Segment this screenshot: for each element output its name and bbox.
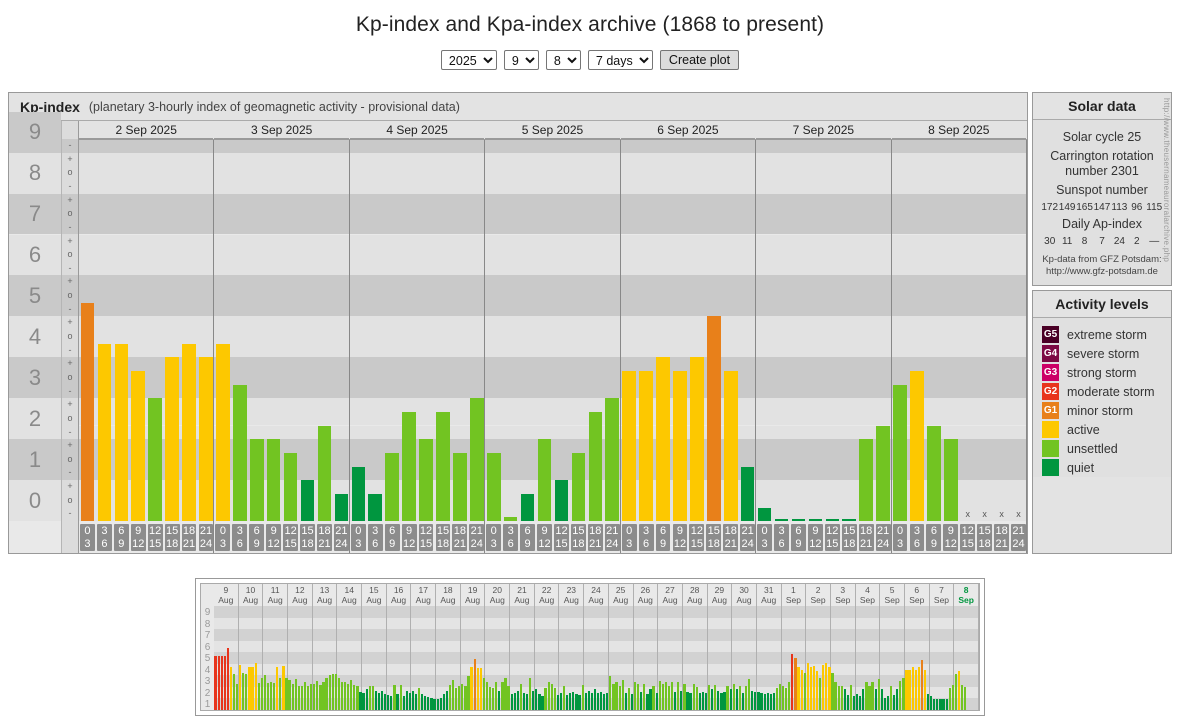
overview-bar xyxy=(535,689,537,710)
overview-bar xyxy=(569,693,571,710)
overview-bar xyxy=(375,691,377,711)
overview-bar xyxy=(597,693,599,710)
overview-bar xyxy=(304,682,306,710)
time-slot-label: 69 xyxy=(385,524,400,551)
overview-bar xyxy=(483,678,485,711)
kp-bar xyxy=(775,519,789,521)
overview-bar xyxy=(665,682,667,710)
y-sub-mark: + xyxy=(62,480,78,494)
kp-bar xyxy=(842,519,856,521)
kp-bar xyxy=(267,439,281,521)
overview-bar xyxy=(335,674,337,710)
overview-bar xyxy=(264,675,266,710)
overview-y-axis: 987654321 xyxy=(201,584,214,710)
time-slot-label: 03 xyxy=(622,524,637,551)
overview-bar xyxy=(588,691,590,711)
overview-bar xyxy=(486,682,488,710)
ap-value-6: — xyxy=(1146,236,1163,247)
main-area: Kp-index (planetary 3-hourly index of ge… xyxy=(8,92,1172,554)
overview-bar xyxy=(446,691,448,711)
overview-bar xyxy=(899,681,901,710)
overview-bar xyxy=(794,658,796,710)
overview-bar xyxy=(495,682,497,710)
time-slot-label: 1518 xyxy=(300,524,315,551)
kp-bar xyxy=(741,467,755,521)
kp-bar xyxy=(81,303,95,521)
kp-bar xyxy=(148,398,162,521)
overview-bar xyxy=(517,691,519,711)
overview-bar xyxy=(270,682,272,710)
overview-bar xyxy=(538,694,540,710)
kp-bar xyxy=(131,371,145,521)
overview-day-label: 27Aug xyxy=(658,584,682,606)
overview-bar xyxy=(825,663,827,710)
overview-bar xyxy=(230,667,232,710)
overview-bar xyxy=(544,688,546,710)
overview-bar xyxy=(773,693,775,710)
source-line-2[interactable]: http://www.gfz-potsdam.de xyxy=(1037,266,1167,278)
level-label: minor storm xyxy=(1067,404,1133,418)
overview-bar xyxy=(807,663,809,710)
overview-bar xyxy=(606,693,608,710)
overview-bar xyxy=(582,685,584,710)
time-slot-label: 1518 xyxy=(571,524,586,551)
time-slot-label: 1215 xyxy=(283,524,298,551)
range-select[interactable]: 7 days xyxy=(588,50,653,70)
year-select[interactable]: 2025 xyxy=(441,50,497,70)
overview-bar xyxy=(548,682,550,710)
overview-bar xyxy=(841,686,843,710)
overview-bar xyxy=(733,684,735,710)
overview-y-label: 7 xyxy=(201,631,214,641)
kp-bar xyxy=(944,439,958,521)
level-label: moderate storm xyxy=(1067,385,1155,399)
y-sub-mark: o xyxy=(62,166,78,180)
overview-bar xyxy=(347,684,349,710)
overview-bar xyxy=(714,685,716,710)
y-sub-mark: - xyxy=(62,180,78,194)
overview-bar xyxy=(622,680,624,710)
day-header: 4 Sep 2025 xyxy=(350,121,484,139)
overview-bar xyxy=(227,648,229,710)
overview-bar xyxy=(612,684,614,710)
overview-bar xyxy=(686,692,688,710)
kp-bar xyxy=(758,508,772,522)
overview-day-label: 7Sep xyxy=(930,584,954,606)
kp-bar xyxy=(809,519,823,521)
overview-y-label: 6 xyxy=(201,643,214,653)
time-slot-label: 03 xyxy=(351,524,366,551)
overview-day-label: 10Aug xyxy=(239,584,263,606)
overview-bar xyxy=(560,693,562,710)
overview-bar xyxy=(797,667,799,710)
time-slot-label: 1518 xyxy=(842,524,857,551)
overview-bar xyxy=(640,692,642,710)
ap-value-5: 2 xyxy=(1128,236,1145,247)
time-slot-label: 912 xyxy=(402,524,417,551)
time-slot-label: 1215 xyxy=(148,524,163,551)
time-slot-label: 1821 xyxy=(588,524,603,551)
overview-bar xyxy=(748,679,750,710)
y-sub-mark: o xyxy=(62,289,78,303)
overview-bar xyxy=(572,692,574,710)
activity-level-g4: G4severe storm xyxy=(1033,344,1171,363)
overview-bar xyxy=(717,691,719,711)
missing-data-marker: x xyxy=(976,509,993,519)
y-sub-mark: - xyxy=(62,344,78,358)
overview-bar xyxy=(745,686,747,710)
overview-bar xyxy=(248,667,250,710)
overview-bar xyxy=(884,698,886,710)
overview-bar xyxy=(563,686,565,710)
sunspot-value-0: 172 xyxy=(1041,202,1058,213)
overview-bar xyxy=(233,674,235,710)
overview-day-label: 11Aug xyxy=(263,584,287,606)
overview-bar xyxy=(255,663,257,710)
overview-bar xyxy=(600,692,602,710)
activity-levels-list: G5extreme stormG4severe stormG3strong st… xyxy=(1033,318,1171,477)
overview-bar xyxy=(557,695,559,710)
overview-bar xyxy=(896,689,898,710)
overview-bar xyxy=(834,682,836,710)
overview-bar xyxy=(239,665,241,711)
overview-bar xyxy=(952,685,954,710)
time-slot-label: 912 xyxy=(808,524,823,551)
overview-bar xyxy=(452,680,454,710)
y-sub-mark: o xyxy=(62,371,78,385)
overview-bar xyxy=(273,683,275,710)
overview-day-label: 14Aug xyxy=(337,584,361,606)
time-slot-label: 03 xyxy=(893,524,908,551)
kp-bar xyxy=(470,398,484,521)
overview-bar xyxy=(828,667,830,710)
overview-bar xyxy=(319,685,321,710)
overview-bar xyxy=(245,674,247,710)
overview-bar xyxy=(529,678,531,711)
overview-bar xyxy=(526,694,528,710)
time-slot-label: 1518 xyxy=(977,524,992,551)
day-header: 2 Sep 2025 xyxy=(79,121,213,139)
time-slot-label: 1215 xyxy=(419,524,434,551)
overview-bar xyxy=(541,696,543,710)
overview-bar xyxy=(316,681,318,710)
overview-bar xyxy=(381,691,383,711)
kp-bar xyxy=(605,398,619,521)
kp-bar xyxy=(707,316,721,521)
level-swatch-icon xyxy=(1042,421,1059,438)
time-slot-label: 2124 xyxy=(876,524,891,551)
overview-bar xyxy=(649,689,651,710)
overview-bar xyxy=(369,686,371,710)
kp-plot-panel: Kp-index (planetary 3-hourly index of ge… xyxy=(8,92,1028,554)
overview-bar xyxy=(751,691,753,711)
overview-bar xyxy=(403,696,405,710)
overview-bar xyxy=(822,665,824,711)
overview-bar xyxy=(683,684,685,710)
overview-bar xyxy=(350,680,352,710)
overview-day-column[interactable]: 17Aug xyxy=(411,584,436,710)
watermark-text: http://www.theusernameauroralarchive.php xyxy=(1162,98,1171,262)
y-sub-mark: - xyxy=(62,262,78,276)
time-slot-label: 2124 xyxy=(740,524,755,551)
source-line-1: Kp-data from GFZ Potsdam: xyxy=(1037,254,1167,266)
overview-day-label: 13Aug xyxy=(313,584,337,606)
overview-bar xyxy=(905,670,907,710)
overview-bar xyxy=(523,693,525,710)
activity-level-quiet: quiet xyxy=(1033,458,1171,477)
time-slot-label: 912 xyxy=(266,524,281,551)
level-swatch-icon xyxy=(1042,440,1059,457)
overview-bar xyxy=(603,694,605,710)
overview-day-label: 30Aug xyxy=(732,584,756,606)
overview-bar xyxy=(393,685,395,710)
kp-bar xyxy=(927,426,941,521)
time-slot-label: 1518 xyxy=(436,524,451,551)
overview-bar xyxy=(430,698,432,710)
activity-level-g3: G3strong storm xyxy=(1033,363,1171,382)
kp-bar xyxy=(115,344,129,521)
y-sub-mark: - xyxy=(62,139,78,153)
overview-bar xyxy=(677,682,679,710)
overview-bar xyxy=(566,695,568,710)
time-slot-label: 1821 xyxy=(994,524,1009,551)
kp-bar xyxy=(589,412,603,521)
kp-bar xyxy=(826,519,840,521)
level-label: unsettled xyxy=(1067,442,1118,456)
overview-day-label: 22Aug xyxy=(535,584,559,606)
kp-bar xyxy=(233,385,247,521)
month-select[interactable]: 9 xyxy=(504,50,539,70)
overview-bar xyxy=(282,666,284,710)
overview-bar xyxy=(338,678,340,711)
kp-bar xyxy=(521,494,535,521)
overview-day-label: 6Sep xyxy=(905,584,929,606)
overview-bar xyxy=(930,696,932,710)
overview-bar xyxy=(856,694,858,710)
level-swatch-icon: G1 xyxy=(1042,402,1059,419)
ap-value-3: 7 xyxy=(1093,236,1110,247)
overview-bar xyxy=(878,679,880,710)
overview-bar xyxy=(458,686,460,710)
level-label: quiet xyxy=(1067,461,1094,475)
overview-bar xyxy=(310,684,312,710)
level-label: strong storm xyxy=(1067,366,1136,380)
overview-bar xyxy=(332,674,334,710)
missing-data-marker: x xyxy=(993,509,1010,519)
create-plot-button[interactable]: Create plot xyxy=(660,50,739,70)
sunspot-value-6: 115 xyxy=(1146,202,1163,213)
time-slot-label: 36 xyxy=(232,524,247,551)
activity-level-g1: G1minor storm xyxy=(1033,401,1171,420)
kp-bar-chart: 2 Sep 202503366991212151518182121243 Sep… xyxy=(79,121,1027,553)
overview-bar xyxy=(674,692,676,710)
y-sub-mark: + xyxy=(62,235,78,249)
day-header: 6 Sep 2025 xyxy=(621,121,755,139)
overview-day-label: 8Sep xyxy=(954,584,978,606)
overview-bar xyxy=(788,682,790,710)
overview-day-label: 31Aug xyxy=(757,584,781,606)
overview-bar xyxy=(801,670,803,710)
overview-y-label: 2 xyxy=(201,689,214,699)
y-sub-mark: - xyxy=(62,303,78,317)
page-title: Kp-index and Kpa-index archive (1868 to … xyxy=(0,0,1180,37)
overview-day-label: 17Aug xyxy=(411,584,435,606)
kp-bar xyxy=(572,453,586,521)
plot-header: Kp-index (planetary 3-hourly index of ge… xyxy=(9,93,1027,121)
time-slot-label: 69 xyxy=(249,524,264,551)
overview-bar xyxy=(261,678,263,711)
y-sub-mark: + xyxy=(62,194,78,208)
kp-bar xyxy=(318,426,332,521)
overview-bar xyxy=(480,668,482,710)
overview-bar xyxy=(760,693,762,710)
time-slot-label: 2124 xyxy=(199,524,214,551)
overview-bar xyxy=(504,678,506,711)
overview-bar xyxy=(366,689,368,710)
overview-bar xyxy=(696,687,698,710)
overview-day-label: 20Aug xyxy=(485,584,509,606)
overview-bar xyxy=(933,699,935,710)
overview-day-label: 4Sep xyxy=(856,584,880,606)
kp-bar xyxy=(368,494,382,521)
overview-bar xyxy=(464,686,466,710)
time-slot-label: 1821 xyxy=(723,524,738,551)
overview-bar xyxy=(276,667,278,710)
overview-bar xyxy=(520,684,522,710)
y-sub-mark: - xyxy=(62,466,78,480)
overview-day-label: 18Aug xyxy=(436,584,460,606)
day-header: 7 Sep 2025 xyxy=(756,121,890,139)
kp-bar xyxy=(555,480,569,521)
time-slot-label: 912 xyxy=(673,524,688,551)
overview-bar xyxy=(915,670,917,710)
overview-bar xyxy=(652,686,654,710)
overview-bar xyxy=(427,697,429,710)
missing-data-marker: x xyxy=(959,509,976,519)
time-slot-label: 2124 xyxy=(469,524,484,551)
overview-bar xyxy=(643,684,645,710)
overview-bar xyxy=(615,682,617,710)
overview-bar xyxy=(362,693,364,710)
overview-bar xyxy=(875,689,877,710)
overview-bar xyxy=(961,685,963,710)
overview-bar xyxy=(218,656,220,710)
overview-bar xyxy=(634,682,636,710)
overview-bar xyxy=(341,682,343,710)
overview-y-label: 8 xyxy=(201,620,214,630)
overview-bar xyxy=(295,679,297,710)
overview-bar xyxy=(730,689,732,710)
kp-bar xyxy=(504,517,518,521)
time-slot-label: 36 xyxy=(639,524,654,551)
overview-bar xyxy=(776,688,778,710)
activity-level-active: active xyxy=(1033,420,1171,439)
overview-bar xyxy=(498,691,500,711)
time-slot-label: 1215 xyxy=(554,524,569,551)
overview-bar xyxy=(871,682,873,710)
kp-bar xyxy=(910,371,924,521)
day-select[interactable]: 8 xyxy=(546,50,581,70)
overview-bar xyxy=(307,686,309,710)
y-sub-mark: + xyxy=(62,398,78,412)
overview-bar xyxy=(329,675,331,710)
time-slot-label: 69 xyxy=(926,524,941,551)
y-axis-label: 3 xyxy=(9,357,61,398)
time-slot-label: 36 xyxy=(368,524,383,551)
overview-bar xyxy=(791,654,793,710)
overview-bar xyxy=(810,667,812,710)
overview-bar xyxy=(785,688,787,710)
ap-values: 301187242— xyxy=(1037,236,1167,247)
level-swatch-icon xyxy=(1042,459,1059,476)
overview-bar xyxy=(955,674,957,710)
overview-bar xyxy=(433,699,435,710)
kp-bar xyxy=(98,344,112,521)
kp-bar xyxy=(182,344,196,521)
solar-data-panel: Solar data Solar cycle 25 Carrington rot… xyxy=(1032,92,1172,286)
kp-bar xyxy=(538,439,552,521)
overview-bar xyxy=(656,693,658,710)
overview-bar xyxy=(322,682,324,710)
overview-bar xyxy=(720,693,722,710)
overview-bar xyxy=(912,667,914,710)
kp-bar xyxy=(385,453,399,521)
y-axis-label: 9 xyxy=(9,112,61,153)
kp-bar xyxy=(216,344,230,521)
overview-bar xyxy=(443,694,445,710)
overview-y-label: 5 xyxy=(201,654,214,664)
time-slot-label: 36 xyxy=(503,524,518,551)
time-slot-label: 2124 xyxy=(334,524,349,551)
overview-bar xyxy=(819,678,821,711)
time-slot-label: 912 xyxy=(131,524,146,551)
overview-bar xyxy=(902,678,904,711)
y-axis-label: 1 xyxy=(9,439,61,480)
overview-day-label: 23Aug xyxy=(559,584,583,606)
time-slot-label: 1518 xyxy=(165,524,180,551)
overview-bar xyxy=(477,668,479,710)
overview-day-label: 2Sep xyxy=(806,584,830,606)
overview-bar xyxy=(964,687,966,710)
solar-data-body: Solar cycle 25 Carrington rotation numbe… xyxy=(1033,120,1171,285)
kp-bar xyxy=(165,357,179,521)
overview-bar xyxy=(662,684,664,710)
overview-panel[interactable]: 987654321 9Aug10Aug11Aug12Aug13Aug14Aug1… xyxy=(195,578,985,716)
overview-bar xyxy=(551,684,553,710)
overview-bar xyxy=(292,684,294,710)
overview-bar xyxy=(575,694,577,710)
activity-level-unsettled: unsettled xyxy=(1033,439,1171,458)
overview-bar xyxy=(862,689,864,710)
overview-bar xyxy=(609,676,611,710)
overview-day-label: 25Aug xyxy=(609,584,633,606)
overview-bar xyxy=(267,683,269,710)
overview-bar xyxy=(680,691,682,711)
overview-bar xyxy=(723,692,725,710)
y-axis-label: 0 xyxy=(9,480,61,521)
kp-bar xyxy=(690,357,704,521)
overview-bar xyxy=(936,699,938,710)
time-slot-label: 03 xyxy=(215,524,230,551)
overview-bar xyxy=(958,671,960,710)
time-slot-label: 1518 xyxy=(706,524,721,551)
sunspot-value-1: 149 xyxy=(1058,202,1075,213)
overview-day-label: 5Sep xyxy=(880,584,904,606)
overview-bar xyxy=(859,696,861,710)
overview-bar xyxy=(585,693,587,710)
overview-bar xyxy=(853,696,855,710)
time-slot-label: 36 xyxy=(774,524,789,551)
